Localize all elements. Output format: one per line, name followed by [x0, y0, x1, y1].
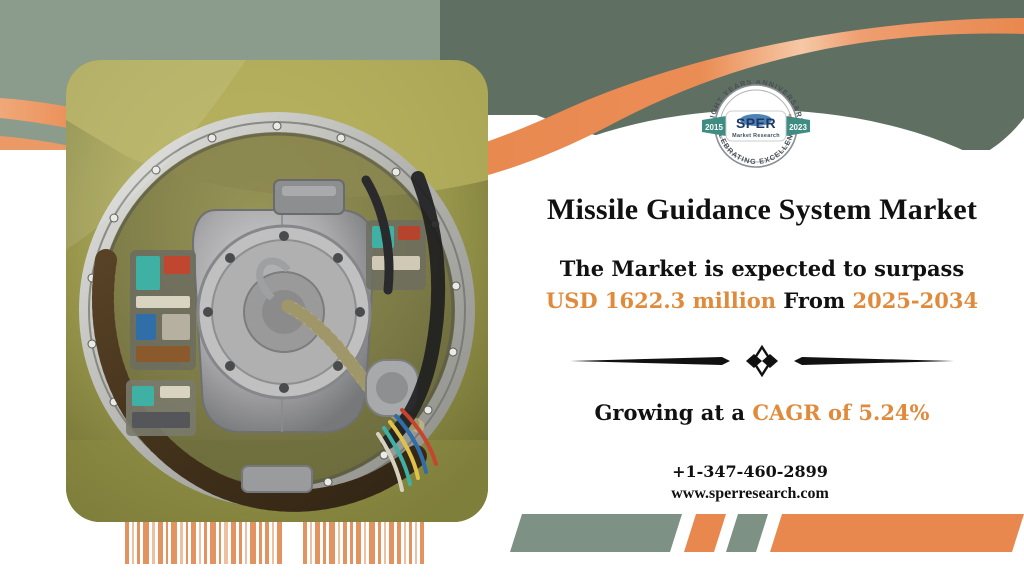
cagr-prefix: Growing at a [594, 400, 745, 425]
page-title: Missile Guidance System Market [500, 193, 1024, 227]
svg-text:®: ® [788, 113, 792, 120]
contact-website[interactable]: www.sperresearch.com [500, 485, 1000, 503]
market-statement-line: The Market is expected to surpass [500, 256, 1024, 281]
contact-phone[interactable]: +1-347-460-2899 [500, 462, 1000, 481]
market-value-line: USD 1622.3 million From 2025-2034 [500, 288, 1024, 313]
product-photo [66, 60, 488, 522]
svg-text:2015: 2015 [705, 123, 723, 132]
cagr-value: CAGR of 5.24% [752, 400, 929, 425]
svg-text:2023: 2023 [789, 123, 807, 132]
barcode-stripes [125, 522, 435, 564]
ribbon-orange-1 [684, 514, 726, 552]
content-panel: EIGHT YEARS ANNIVERSARY CELEBRATING EXCE… [500, 60, 1024, 520]
svg-text:Market Research: Market Research [732, 133, 780, 139]
infographic-canvas: EIGHT YEARS ANNIVERSARY CELEBRATING EXCE… [0, 0, 1024, 577]
forecast-period: 2025-2034 [852, 288, 978, 313]
market-value: USD 1622.3 million [546, 288, 776, 313]
value-connector: From [783, 288, 845, 313]
ornamental-divider [562, 343, 962, 379]
ribbon-orange-2 [770, 514, 1024, 552]
sper-logo[interactable]: EIGHT YEARS ANNIVERSARY CELEBRATING EXCE… [696, 80, 816, 168]
ribbon-sage-1 [510, 514, 682, 552]
angled-ribbon-bars [510, 512, 1024, 557]
svg-text:SPER: SPER [736, 115, 776, 131]
ribbon-sage-2 [726, 514, 768, 552]
cagr-line: Growing at a CAGR of 5.24% [500, 400, 1024, 425]
